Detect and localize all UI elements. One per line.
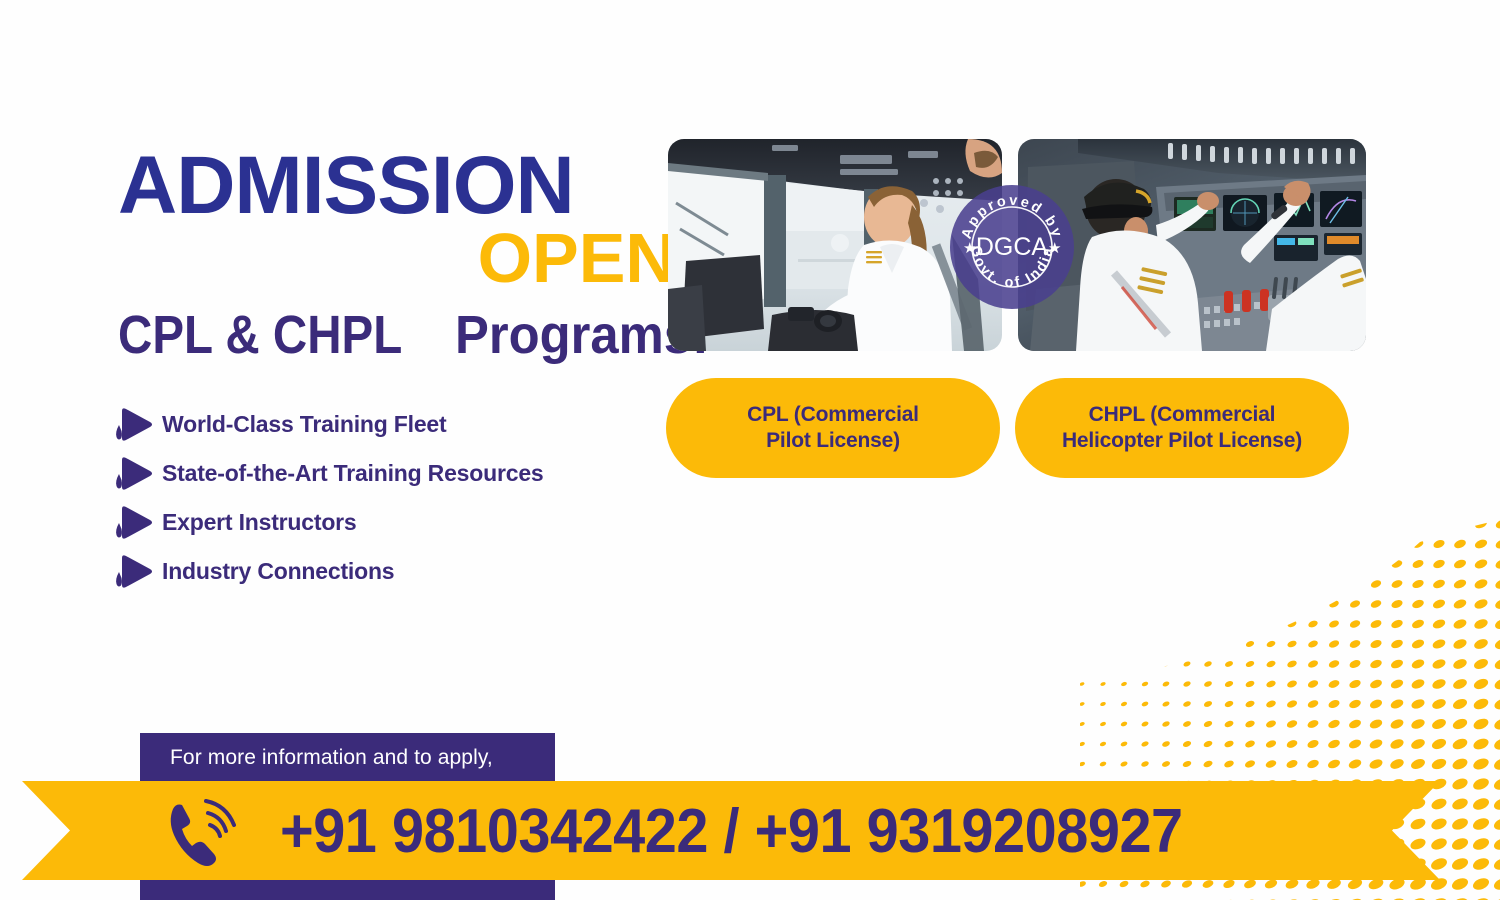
feature-label: Expert Instructors	[162, 509, 357, 536]
info-callout-text: For more information and to apply,	[170, 746, 493, 770]
badge-center-text: DGCA	[976, 233, 1049, 261]
feature-item-2: Expert Instructors	[110, 498, 710, 547]
play-arrow-icon	[110, 454, 156, 494]
chpl-button-line1: CHPL (Commercial	[1089, 403, 1276, 426]
play-arrow-icon	[110, 552, 156, 592]
feature-item-3: Industry Connections	[110, 547, 710, 596]
badge-star-right: ★	[1048, 240, 1061, 257]
cpl-button-line2: Pilot License)	[766, 429, 900, 452]
feature-label: State-of-the-Art Training Resources	[162, 460, 544, 487]
feature-label: World-Class Training Fleet	[162, 411, 446, 438]
feature-label: Industry Connections	[162, 558, 394, 585]
feature-item-1: State-of-the-Art Training Resources	[110, 449, 710, 498]
headline-programs-prefix: CPL & CHPL	[118, 307, 402, 364]
admission-open-banner: ADMISSION OPEN CPL & CHPLPrograms! World…	[0, 0, 1500, 900]
play-arrow-icon	[110, 503, 156, 543]
feature-item-0: World-Class Training Fleet	[110, 400, 710, 449]
phone-ringing-icon	[168, 793, 252, 869]
phone-numbers-text[interactable]: +91 9810342422 / +91 9319208927	[280, 790, 1183, 872]
chpl-program-button[interactable]: CHPL (Commercial Helicopter Pilot Licens…	[1015, 378, 1349, 478]
headline-programs: CPL & CHPLPrograms!	[118, 307, 678, 364]
badge-star-left: ★	[963, 240, 976, 257]
chpl-button-line2: Helicopter Pilot License)	[1062, 429, 1302, 452]
cpl-button-line1: CPL (Commercial	[747, 403, 919, 426]
feature-list: World-Class Training Fleet State-of-the-…	[110, 400, 710, 596]
chpl-button-label: CHPL (Commercial Helicopter Pilot Licens…	[1062, 402, 1302, 455]
dgca-approval-badge: Approved by Govt. of India ★ ★ DGCA	[948, 183, 1076, 311]
cpl-program-button[interactable]: CPL (Commercial Pilot License)	[666, 378, 1000, 478]
headline-admission: ADMISSION	[118, 148, 678, 223]
cpl-button-label: CPL (Commercial Pilot License)	[747, 402, 919, 455]
headline-open: OPEN	[118, 223, 678, 294]
headline-block: ADMISSION OPEN CPL & CHPLPrograms!	[118, 148, 678, 364]
play-arrow-icon	[110, 405, 156, 445]
